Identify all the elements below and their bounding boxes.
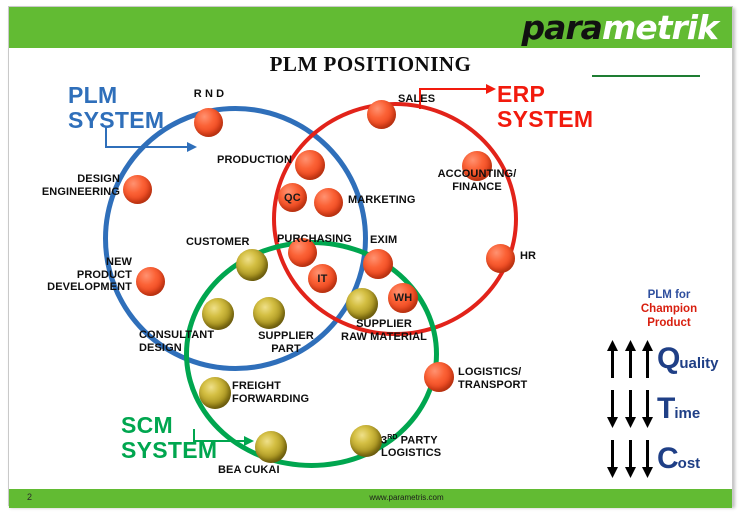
node-hr[interactable] bbox=[486, 244, 515, 273]
qtc-letter-c: C bbox=[657, 442, 678, 475]
scm-callout-arrow bbox=[192, 425, 256, 449]
logo-text-dark: para bbox=[521, 8, 601, 47]
down-arrows-group bbox=[603, 440, 653, 478]
qtc-word-quality: Quality bbox=[657, 342, 719, 376]
arrow-down-icon bbox=[625, 440, 636, 478]
qtc-row-quality: Quality bbox=[603, 337, 735, 380]
label-design-engineering: DESIGN ENGINEERING bbox=[14, 173, 120, 198]
node-it[interactable]: IT bbox=[308, 264, 337, 293]
label-purchasing: PURCHASING bbox=[277, 233, 361, 246]
label-supplier-raw-material: SUPPLIER RAW MATERIAL bbox=[329, 318, 439, 343]
label-qc: QC bbox=[284, 192, 301, 204]
label-customer: CUSTOMER bbox=[186, 236, 272, 249]
label-supplier-part: SUPPLIER PART bbox=[243, 330, 329, 355]
page-title: PLM POSITIONING bbox=[0, 52, 741, 77]
footer-url: www.parametris.com bbox=[9, 493, 732, 502]
label-3pl-sup: RD bbox=[387, 434, 397, 441]
node-design-engineering[interactable] bbox=[123, 175, 152, 204]
arrow-down-icon bbox=[607, 390, 618, 428]
label-third-party-logistics: 3RD PARTY LOGISTICS bbox=[381, 432, 475, 460]
label-accounting-finance: ACCOUNTING/ FINANCE bbox=[425, 168, 529, 193]
green-divider-line bbox=[592, 75, 700, 77]
slide: parametrik PLM POSITIONING PLM SYSTEM ER… bbox=[0, 0, 741, 516]
label-freight-forwarding: FREIGHT FORWARDING bbox=[232, 380, 330, 405]
arrow-up-icon bbox=[607, 340, 618, 378]
up-arrows-group bbox=[603, 340, 653, 378]
qtc-rest-time: ime bbox=[674, 405, 700, 422]
arrow-up-icon bbox=[642, 340, 653, 378]
plm-callout-arrow bbox=[103, 125, 199, 155]
qtc-rest-quality: uality bbox=[679, 355, 718, 372]
node-rnd[interactable] bbox=[194, 108, 223, 137]
qtc-word-cost: Cost bbox=[657, 442, 700, 476]
label-bea-cukai: BEA CUKAI bbox=[218, 464, 318, 477]
down-arrows-group bbox=[603, 390, 653, 428]
arrow-down-icon bbox=[607, 440, 618, 478]
label-hr: HR bbox=[520, 250, 560, 263]
node-third-party-logistics[interactable] bbox=[350, 425, 382, 457]
node-bea-cukai[interactable] bbox=[255, 431, 287, 463]
node-supplier-part[interactable] bbox=[253, 297, 285, 329]
logo-text-light: metrik bbox=[602, 8, 718, 47]
label-it: IT bbox=[317, 273, 327, 285]
node-marketing[interactable] bbox=[314, 188, 343, 217]
node-new-product-development[interactable] bbox=[136, 267, 165, 296]
label-wh: WH bbox=[394, 292, 413, 304]
header-banner: parametrik bbox=[9, 7, 732, 48]
qtc-rest-cost: ost bbox=[678, 455, 701, 472]
arrow-up-icon bbox=[625, 340, 636, 378]
qtc-heading-line1: PLM for bbox=[603, 288, 735, 302]
node-exim[interactable] bbox=[363, 249, 393, 279]
label-exim: EXIM bbox=[370, 234, 430, 247]
parametrik-logo: parametrik bbox=[521, 10, 718, 46]
arrow-down-icon bbox=[642, 440, 653, 478]
qtc-row-cost: Cost bbox=[603, 437, 735, 480]
qtc-letter-q: Q bbox=[657, 342, 679, 375]
label-rnd: R N D bbox=[163, 88, 255, 101]
node-consultant-design-sphere[interactable] bbox=[202, 298, 234, 330]
label-sales: SALES bbox=[398, 93, 458, 106]
node-customer[interactable] bbox=[236, 249, 268, 281]
label-logistics-transport: LOGISTICS/ TRANSPORT bbox=[458, 366, 550, 391]
node-qc[interactable]: QC bbox=[278, 183, 307, 212]
node-supplier-raw-material[interactable] bbox=[346, 288, 378, 320]
qtc-heading-line2: Champion Product bbox=[603, 302, 735, 330]
node-sales[interactable] bbox=[367, 100, 396, 129]
label-marketing: MARKETING bbox=[348, 194, 440, 207]
label-new-product-development: NEW PRODUCT DEVELOPMENT bbox=[24, 256, 132, 294]
node-production[interactable] bbox=[295, 150, 325, 180]
qtc-heading: PLM for Champion Product bbox=[603, 288, 735, 330]
label-production: PRODUCTION bbox=[198, 154, 292, 167]
qtc-word-time: Time bbox=[657, 392, 700, 426]
node-wh[interactable]: WH bbox=[388, 283, 418, 313]
qtc-letter-t: T bbox=[657, 392, 674, 425]
arrow-down-icon bbox=[625, 390, 636, 428]
label-consultant-design: CONSULTANT DESIGN bbox=[139, 329, 249, 354]
qtc-panel: PLM for Champion Product Quality Time bbox=[603, 288, 735, 480]
erp-system-label: ERP SYSTEM bbox=[497, 82, 593, 132]
footer-bar: 2 www.parametris.com bbox=[9, 489, 732, 508]
node-logistics-transport[interactable] bbox=[424, 362, 454, 392]
node-freight-forwarding[interactable] bbox=[199, 377, 231, 409]
arrow-down-icon bbox=[642, 390, 653, 428]
qtc-row-time: Time bbox=[603, 387, 735, 430]
